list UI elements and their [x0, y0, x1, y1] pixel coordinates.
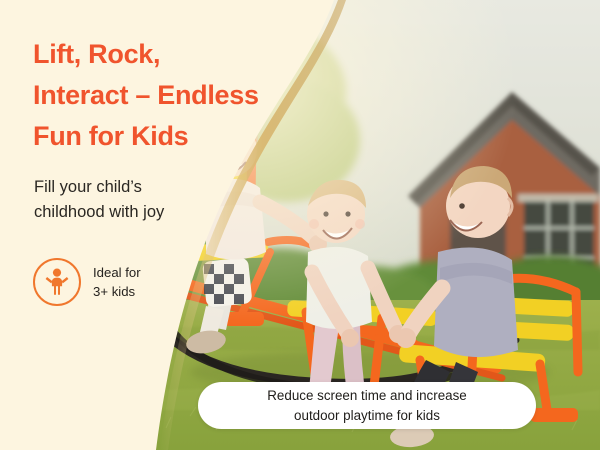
subheadline: Fill your child’s childhood with joy: [34, 175, 264, 225]
page-title: Lift, Rock, Interact – Endless Fun for K…: [33, 34, 333, 157]
promo-banner: Lift, Rock, Interact – Endless Fun for K…: [0, 0, 600, 450]
highlight-pill: Reduce screen time and increase outdoor …: [198, 382, 536, 429]
highlight-pill-text: Reduce screen time and increase outdoor …: [253, 386, 480, 424]
child-raised-arms-icon: [33, 258, 81, 306]
feature-badge: Ideal for 3+ kids: [33, 258, 141, 306]
feature-label: Ideal for 3+ kids: [93, 263, 141, 301]
